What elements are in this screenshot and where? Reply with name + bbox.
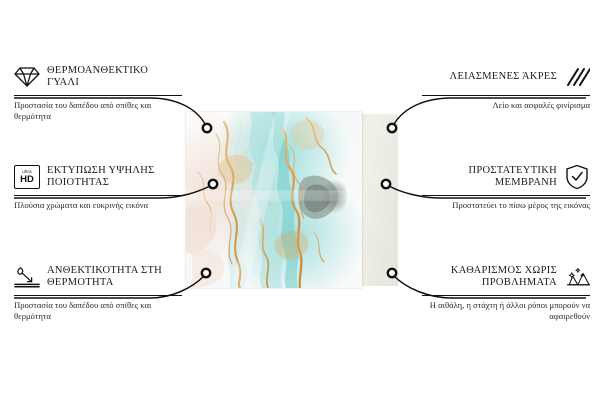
feature-divider bbox=[422, 195, 590, 196]
feature-title: ΛΕΙΑΣΜΕΝΕΣ ΆΚΡΕΣ bbox=[450, 71, 557, 84]
printed-glass-panel bbox=[186, 112, 362, 288]
feature-polished-edges: ΛΕΙΑΣΜΕΝΕΣ ΆΚΡΕΣ Λείο και ασφαλές φινίρι… bbox=[422, 62, 590, 111]
feature-description: Προστασία του δαπέδου από σπίθες και θερ… bbox=[14, 300, 182, 321]
feature-divider bbox=[422, 295, 590, 296]
marble-artwork bbox=[186, 112, 362, 288]
feature-title: ΑΝΘΕΚΤΙΚΟΤΗΤΑ ΣΤΗ ΘΕΡΜΟΤΗΤΑ bbox=[47, 265, 182, 290]
feature-title: ΠΡΟΣΤΑΤΕΥΤΙΚΗ ΜΕΜΒΡΑΝΗ bbox=[422, 165, 557, 190]
feature-divider bbox=[14, 95, 182, 96]
feature-divider bbox=[14, 195, 182, 196]
feature-heat-durability: ΑΝΘΕΚΤΙΚΟΤΗΤΑ ΣΤΗ ΘΕΡΜΟΤΗΤΑ Προστασία το… bbox=[14, 262, 182, 321]
feature-divider bbox=[14, 295, 182, 296]
feature-description: Προστατεύει το πίσω μέρος της εικόνας bbox=[422, 200, 590, 211]
feature-divider bbox=[422, 95, 590, 96]
polished-edges-icon bbox=[564, 64, 590, 90]
feature-title: ΕΚΤΥΠΩΣΗ ΥΨΗΛΗΣ ΠΟΙΟΤΗΤΑΣ bbox=[47, 165, 182, 190]
heat-resistance-icon bbox=[14, 264, 40, 290]
feature-description: Πλούσια χρώματα και ευκρινής εικόνα bbox=[14, 200, 182, 211]
hd-badge-hd-label: HD bbox=[20, 175, 34, 185]
feature-high-quality-print: ultra HD ΕΚΤΥΠΩΣΗ ΥΨΗΛΗΣ ΠΟΙΟΤΗΤΑΣ Πλούσ… bbox=[14, 162, 182, 211]
feature-easy-cleaning: ΚΑΘΑΡΙΣΜΟΣ ΧΩΡΙΣ ΠΡΟΒΛΗΜΑΤΑ Η αιθάλη, η … bbox=[422, 262, 590, 321]
feature-title: ΘΕΡΜΟΑΝΘΕΚΤΙΚΟ ΓΥΑΛΙ bbox=[47, 65, 182, 90]
diamond-icon bbox=[14, 64, 40, 90]
feature-heat-resistant-glass: ΘΕΡΜΟΑΝΘΕΚΤΙΚΟ ΓΥΑΛΙ Προστασία του δαπέδ… bbox=[14, 62, 182, 121]
feature-description: Η αιθάλη, η στάχτη ή άλλοι ρύποι μπορούν… bbox=[422, 300, 590, 321]
sparkle-clean-icon bbox=[564, 264, 590, 290]
feature-protective-membrane: ΠΡΟΣΤΑΤΕΥΤΙΚΗ ΜΕΜΒΡΑΝΗ Προστατεύει το πί… bbox=[422, 162, 590, 211]
product-image bbox=[186, 112, 398, 288]
infographic-page: ΘΕΡΜΟΑΝΘΕΚΤΙΚΟ ΓΥΑΛΙ Προστασία του δαπέδ… bbox=[0, 0, 600, 400]
feature-description: Λείο και ασφαλές φινίρισμα bbox=[422, 100, 590, 111]
shield-check-icon bbox=[564, 164, 590, 190]
feature-title: ΚΑΘΑΡΙΣΜΟΣ ΧΩΡΙΣ ΠΡΟΒΛΗΜΑΤΑ bbox=[422, 265, 557, 290]
feature-description: Προστασία του δαπέδου από σπίθες και θερ… bbox=[14, 100, 182, 121]
ultra-hd-badge-icon: ultra HD bbox=[14, 164, 40, 190]
